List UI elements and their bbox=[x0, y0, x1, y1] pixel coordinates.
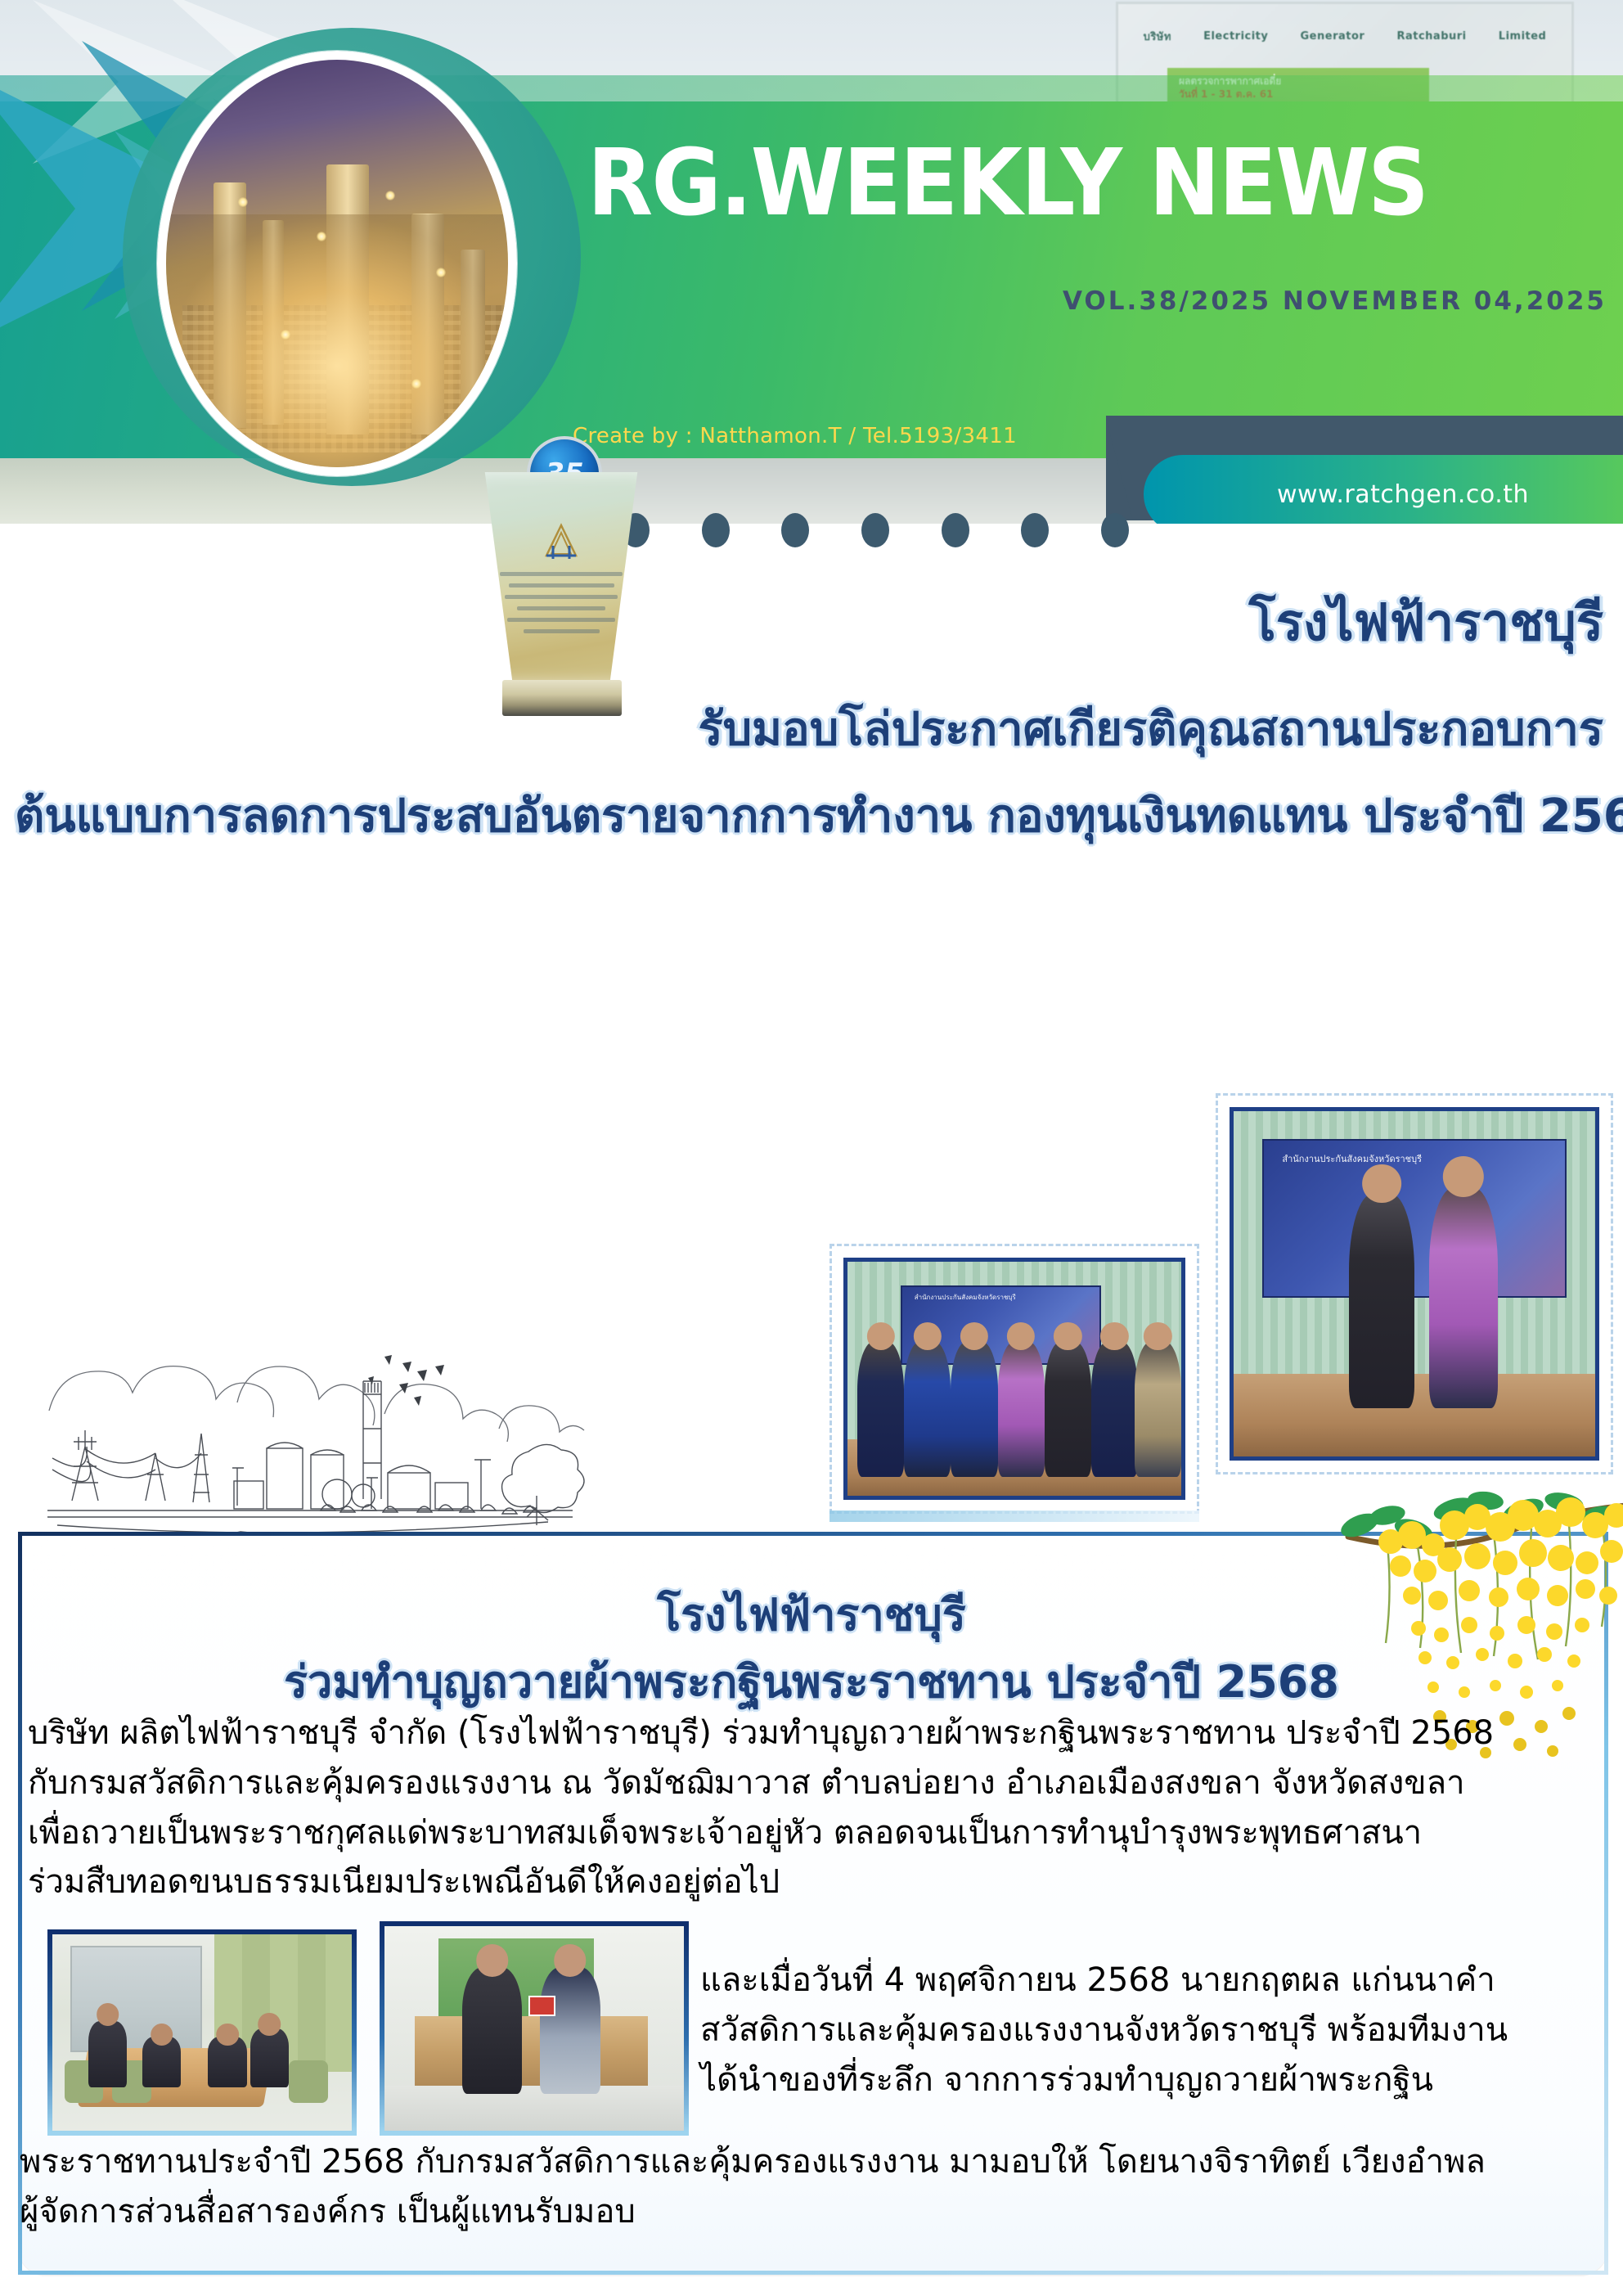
dot-2 bbox=[702, 513, 730, 547]
plant-spark-1 bbox=[238, 197, 248, 207]
section2-body2-text: และเมื่อวันที่ 4 พฤศจิกายน 2568 นายกฤตผล… bbox=[700, 1956, 1600, 2105]
dot-6 bbox=[1021, 513, 1049, 547]
photo-group-head-1 bbox=[867, 1322, 895, 1350]
plant-spark-2 bbox=[317, 232, 326, 241]
section2-body-line-1: กับกรมสวัสดิการและคุ้มครองแรงงาน ณ วัดมั… bbox=[28, 1758, 1582, 1808]
photo-group-bottom-band bbox=[829, 1510, 1199, 1522]
section1-headline-line3: ต้นแบบการลดการประสบอันตรายจากการทำงาน กอ… bbox=[15, 779, 1623, 852]
handover-room-floor bbox=[384, 2086, 684, 2131]
newsletter-title: RG.WEEKLY NEWS bbox=[587, 137, 1427, 229]
billboard-label-1: Electricity bbox=[1203, 30, 1268, 43]
photo-meeting-room bbox=[47, 1929, 357, 2136]
billboard-label-2: Generator bbox=[1301, 30, 1365, 43]
website-pill[interactable]: www.ratchgen.co.th bbox=[1144, 455, 1623, 524]
photo-event-banner: สำนักงานประกันสังคมจังหวัดราชบุรี bbox=[1262, 1139, 1566, 1298]
billboard-label-3: Ratchaburi bbox=[1396, 30, 1466, 43]
section2-body-line-3: ร่วมสืบทอดขนบธรรมเนียมประเพณีอันดีให้คงอ… bbox=[28, 1857, 1582, 1907]
meeting-room-person-4 bbox=[250, 2028, 290, 2087]
handover-room-cabinet bbox=[415, 2016, 648, 2086]
meeting-room-chair-3 bbox=[289, 2060, 328, 2104]
photo-group-head-6 bbox=[1100, 1322, 1128, 1350]
photo-group-person-7 bbox=[1135, 1341, 1181, 1477]
trophy-engraved-lines bbox=[500, 572, 623, 641]
photo-person-head-2 bbox=[1442, 1156, 1483, 1197]
photo-group-banner-text: สำนักงานประกันสังคมจังหวัดราชบุรี bbox=[915, 1293, 1088, 1303]
section2-body-line-2: เพื่อถวายเป็นพระราชกุศลแด่พระบาทสมเด็จพร… bbox=[28, 1808, 1582, 1858]
section1-headline-line2: รับมอบโล่ประกาศเกียรติคุณสถานประกอบการ bbox=[699, 692, 1603, 765]
billboard-label-0: บริษัท bbox=[1144, 28, 1171, 45]
plant-spark-3 bbox=[385, 191, 395, 200]
photo-souvenir-handover bbox=[380, 1921, 689, 2136]
photo-group-head-5 bbox=[1054, 1322, 1081, 1350]
dot-7 bbox=[1101, 513, 1129, 547]
section1-headline-line1: โรงไฟฟ้าราชบุรี bbox=[1248, 583, 1603, 663]
photo-group-person-1 bbox=[857, 1341, 904, 1477]
award-trophy-photo: 35 bbox=[463, 438, 659, 732]
photo-event-banner-text: สำนักงานประกันสังคมจังหวัดราชบุรี bbox=[1282, 1153, 1546, 1166]
trophy-base bbox=[502, 680, 622, 716]
photo-award-ceremony-handover-inner: สำนักงานประกันสังคมจังหวัดราชบุรี bbox=[1230, 1107, 1599, 1461]
photo-group-award-recipients-inner: สำนักงานประกันสังคมจังหวัดราชบุรี bbox=[843, 1258, 1185, 1500]
photo-group-award-recipients: สำนักงานประกันสังคมจังหวัดราชบุรี bbox=[829, 1244, 1199, 1514]
photo-group-head-2 bbox=[914, 1322, 942, 1350]
photo-person-suit bbox=[1349, 1194, 1414, 1408]
power-plant-line-illustration bbox=[33, 1306, 695, 1551]
photo-award-ceremony-handover: สำนักงานประกันสังคมจังหวัดราชบุรี bbox=[1216, 1093, 1613, 1474]
power-plant-night-photo bbox=[157, 51, 517, 476]
photo-group-person-6 bbox=[1091, 1341, 1138, 1477]
photo-group-head-7 bbox=[1144, 1322, 1171, 1350]
photo-group-head-3 bbox=[960, 1322, 988, 1350]
plant-spark-4 bbox=[436, 268, 446, 277]
dot-separator-strip bbox=[622, 511, 1129, 550]
plant-light-glow bbox=[166, 214, 508, 467]
handover-person-left bbox=[462, 1967, 522, 2094]
section2-body2-line-0: และเมื่อวันที่ 4 พฤศจิกายน 2568 นายกฤตผล… bbox=[700, 1956, 1600, 2006]
section2-body3-line-1: ผู้จัดการส่วนสื่อสารองค์กร เป็นผู้แทนรับ… bbox=[20, 2187, 1590, 2237]
photo-group-person-3 bbox=[951, 1341, 997, 1477]
trophy-plaque-body bbox=[474, 472, 648, 683]
meeting-room-person-1 bbox=[88, 2021, 128, 2088]
dot-3 bbox=[781, 513, 809, 547]
photo-group-head-4 bbox=[1007, 1322, 1035, 1350]
volume-date-label: VOL.38/2025 NOVEMBER 04,2025 bbox=[1063, 286, 1607, 316]
handover-person-right bbox=[540, 1967, 600, 2094]
newsletter-page: บริษัท Electricity Generator Ratchaburi … bbox=[0, 0, 1623, 2296]
section2-body2-line-2: ได้นำของที่ระลึก จากการร่วมทำบุญถวายผ้าพ… bbox=[700, 2055, 1600, 2105]
billboard-company-labels: บริษัท Electricity Generator Ratchaburi … bbox=[1133, 16, 1557, 56]
dot-4 bbox=[861, 513, 889, 547]
meeting-room-person-3 bbox=[208, 2037, 247, 2087]
photo-person-head-1 bbox=[1362, 1164, 1401, 1204]
photo-wood-floor bbox=[1234, 1374, 1595, 1456]
photo-person-purple-shirt bbox=[1429, 1187, 1498, 1408]
photo-group-person-4 bbox=[998, 1341, 1045, 1477]
meeting-room-person-2 bbox=[142, 2037, 182, 2087]
handover-gift-box bbox=[528, 1996, 555, 2016]
section2-body2-line-1: สวัสดิการและคุ้มครองแรงงานจังหวัดราชบุรี… bbox=[700, 2006, 1600, 2055]
section2-body3-line-0: พระราชทานประจำปี 2568 กับกรมสวัสดิการและ… bbox=[20, 2137, 1590, 2187]
section2-body-line-0: บริษัท ผลิตไฟฟ้าราชบุรี จำกัด (โรงไฟฟ้าร… bbox=[28, 1708, 1582, 1758]
plant-spark-6 bbox=[411, 379, 421, 389]
section2-body3-text: พระราชทานประจำปี 2568 กับกรมสวัสดิการและ… bbox=[20, 2137, 1590, 2237]
social-security-office-logo-icon bbox=[535, 523, 587, 564]
billboard-label-4: Limited bbox=[1499, 30, 1547, 43]
section2-body-text: บริษัท ผลิตไฟฟ้าราชบุรี จำกัด (โรงไฟฟ้าร… bbox=[28, 1708, 1582, 1907]
newsletter-header: บริษัท Electricity Generator Ratchaburi … bbox=[0, 0, 1623, 524]
plant-spark-5 bbox=[281, 330, 290, 340]
dot-5 bbox=[942, 513, 969, 547]
photo-group-person-2 bbox=[904, 1341, 951, 1477]
photo-group-person-5 bbox=[1045, 1341, 1091, 1477]
website-url-label: www.ratchgen.co.th bbox=[1277, 480, 1529, 509]
